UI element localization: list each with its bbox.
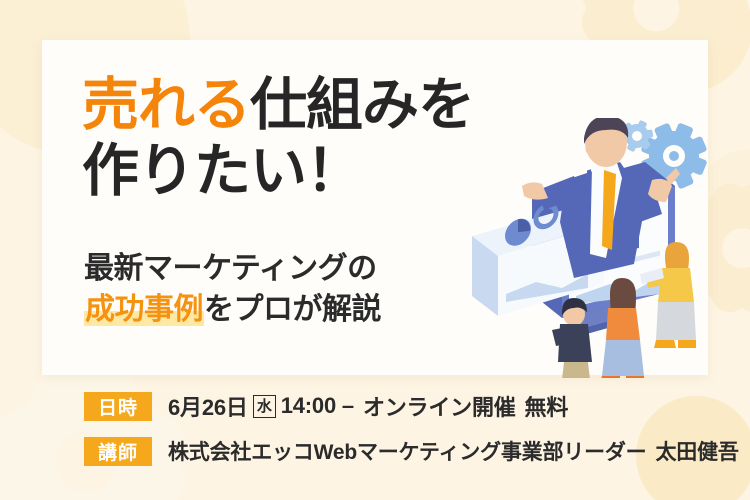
subtitle: 最新マーケティングの 成功事例をプロが解説 (84, 248, 381, 330)
event-datetime-row: 日時 6月26日 水 14:00 – オンライン開催 無料 (84, 390, 739, 422)
event-time: 14:00 – (281, 393, 354, 419)
subtitle-line-2: 成功事例をプロが解説 (84, 289, 381, 330)
status-badge-speaker: 講師 (84, 437, 152, 466)
headline-accent: 売れる (82, 73, 250, 137)
headline-line-1: 売れる仕組みを (82, 72, 552, 138)
subtitle-rest: をプロが解説 (204, 293, 381, 326)
subtitle-line-1: 最新マーケティングの (84, 248, 381, 289)
event-speaker-text: 株式会社エッコWebマーケティング事業部リーダー 太田健吾 (168, 436, 739, 466)
speaker-name: 太田健吾 (655, 436, 738, 466)
status-badge-datetime: 日時 (84, 392, 152, 421)
event-weekday: 水 (253, 395, 276, 418)
speaker-affiliation: 株式会社エッコWebマーケティング事業部リーダー (168, 436, 646, 466)
headline-line-2: 作りたい！ (82, 138, 552, 204)
event-details: 日時 6月26日 水 14:00 – オンライン開催 無料 講師 株式会社エッコ… (84, 390, 739, 480)
event-format: オンライン開催 (363, 390, 516, 422)
headline-rest: 仕組みを (250, 73, 474, 137)
seminar-banner: 売れる仕組みを 作りたい！ 最新マーケティングの 成功事例をプロが解説 (0, 0, 750, 500)
event-date: 6月26日 (168, 390, 248, 422)
page-title: 売れる仕組みを 作りたい！ (82, 72, 552, 204)
event-speaker-row: 講師 株式会社エッコWebマーケティング事業部リーダー 太田健吾 (84, 435, 739, 467)
subtitle-highlight: 成功事例 (84, 293, 204, 326)
event-datetime-text: 6月26日 水 14:00 – オンライン開催 無料 (168, 390, 568, 422)
event-price: 無料 (525, 390, 569, 422)
